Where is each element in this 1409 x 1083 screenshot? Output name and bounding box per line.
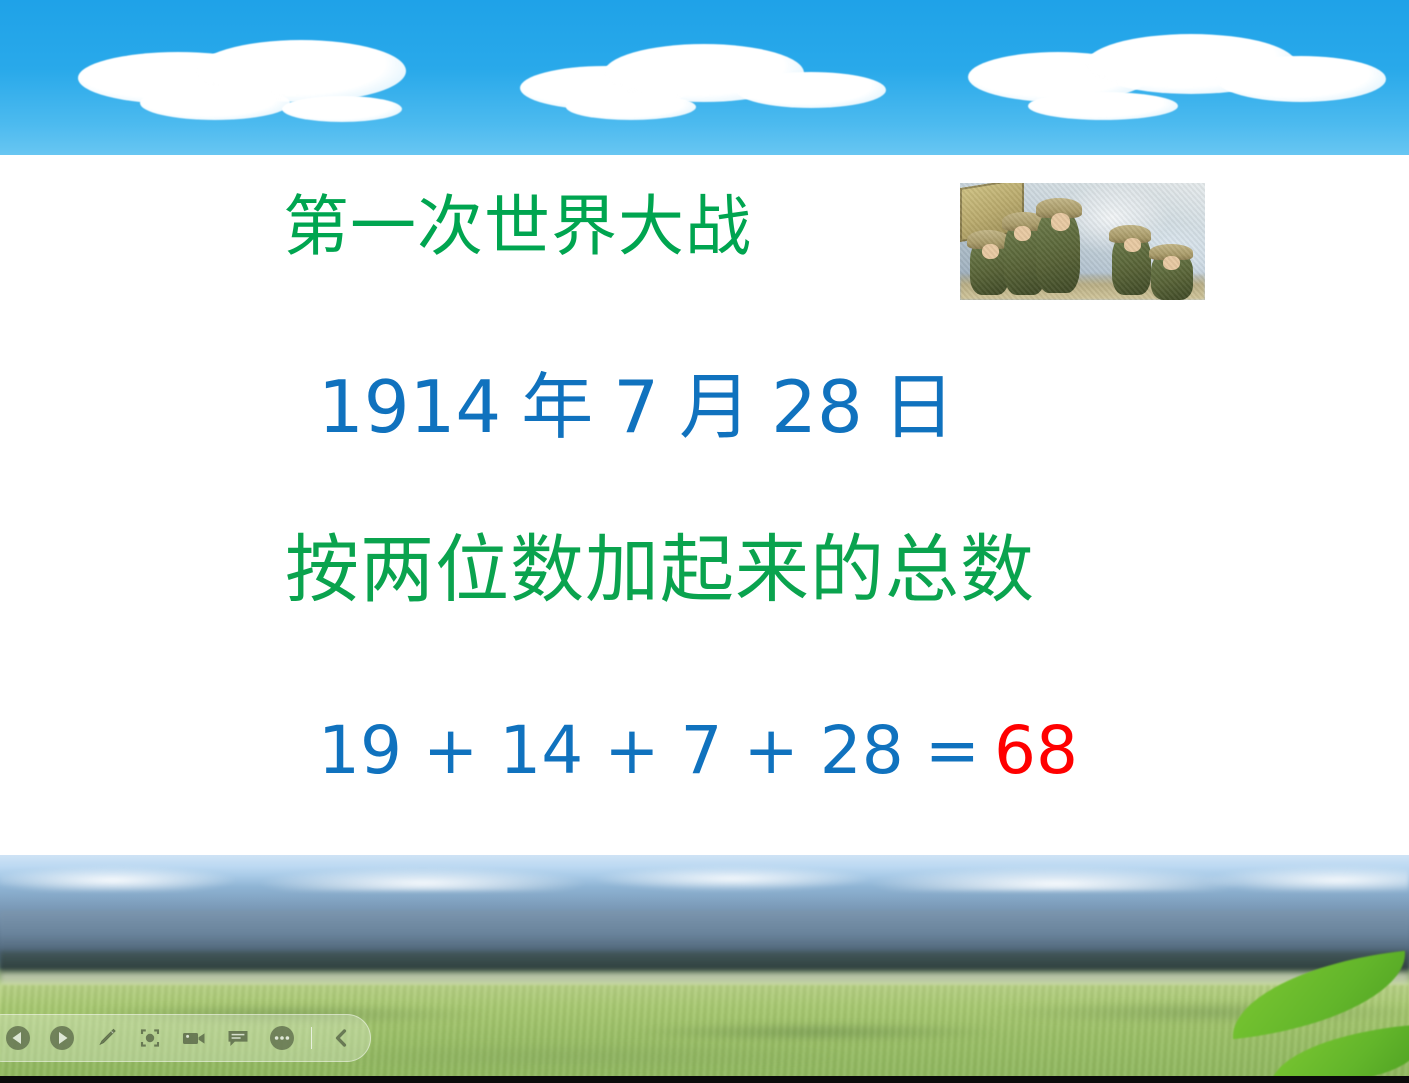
- next-arrow-circle-icon: [49, 1025, 75, 1051]
- date-day-unit: 日: [883, 365, 955, 449]
- cloud-icon: [1216, 56, 1386, 102]
- pen-icon: [93, 1025, 119, 1051]
- previous-slide-button[interactable]: [3, 1023, 33, 1053]
- ellipsis-circle-icon: [269, 1025, 295, 1051]
- cloud-icon: [140, 86, 290, 120]
- distant-clouds: [0, 855, 1409, 891]
- date-year: 1914: [318, 365, 501, 449]
- cloud-icon: [566, 94, 696, 120]
- date-month-unit: 月: [679, 365, 751, 449]
- date-line: 1914 年 7 月 28 日: [318, 371, 955, 444]
- comment-bubble-icon: [225, 1025, 251, 1051]
- cloud-icon: [282, 96, 402, 122]
- date-day: 28: [771, 365, 863, 449]
- toolbar-divider: [311, 1027, 312, 1049]
- notes-button[interactable]: [223, 1023, 253, 1053]
- page-title: 第一次世界大战: [283, 194, 752, 260]
- wwi-soldiers-image: [960, 183, 1205, 300]
- video-camera-icon: [180, 1025, 208, 1051]
- date-month: 7: [613, 365, 659, 449]
- slide-bottom-edge: [0, 1076, 1409, 1083]
- equation-line: 19 + 14 + 7 + 28 =68: [318, 718, 1078, 784]
- next-slide-button[interactable]: [47, 1023, 77, 1053]
- chevron-left-icon: [328, 1025, 354, 1051]
- sky-banner-decoration: [0, 0, 1409, 155]
- instruction-text: 按两位数加起来的总数: [285, 533, 1035, 607]
- collapse-toolbar-button[interactable]: [326, 1023, 356, 1053]
- laser-focus-icon: [137, 1025, 163, 1051]
- more-options-button[interactable]: [267, 1023, 297, 1053]
- pen-tool-button[interactable]: [91, 1023, 121, 1053]
- cloud-icon: [736, 72, 886, 108]
- record-video-button[interactable]: [179, 1023, 209, 1053]
- date-year-unit: 年: [521, 365, 593, 449]
- previous-arrow-circle-icon: [5, 1025, 31, 1051]
- equation-expression: 19 + 14 + 7 + 28 =: [318, 712, 980, 789]
- presentation-slide: 第一次世界大战 1914 年 7 月 28 日 按两位数加: [0, 0, 1409, 1083]
- cloud-icon: [1028, 92, 1178, 120]
- laser-pointer-button[interactable]: [135, 1023, 165, 1053]
- equation-answer: 68: [994, 712, 1078, 789]
- presenter-toolbar[interactable]: [0, 1014, 371, 1062]
